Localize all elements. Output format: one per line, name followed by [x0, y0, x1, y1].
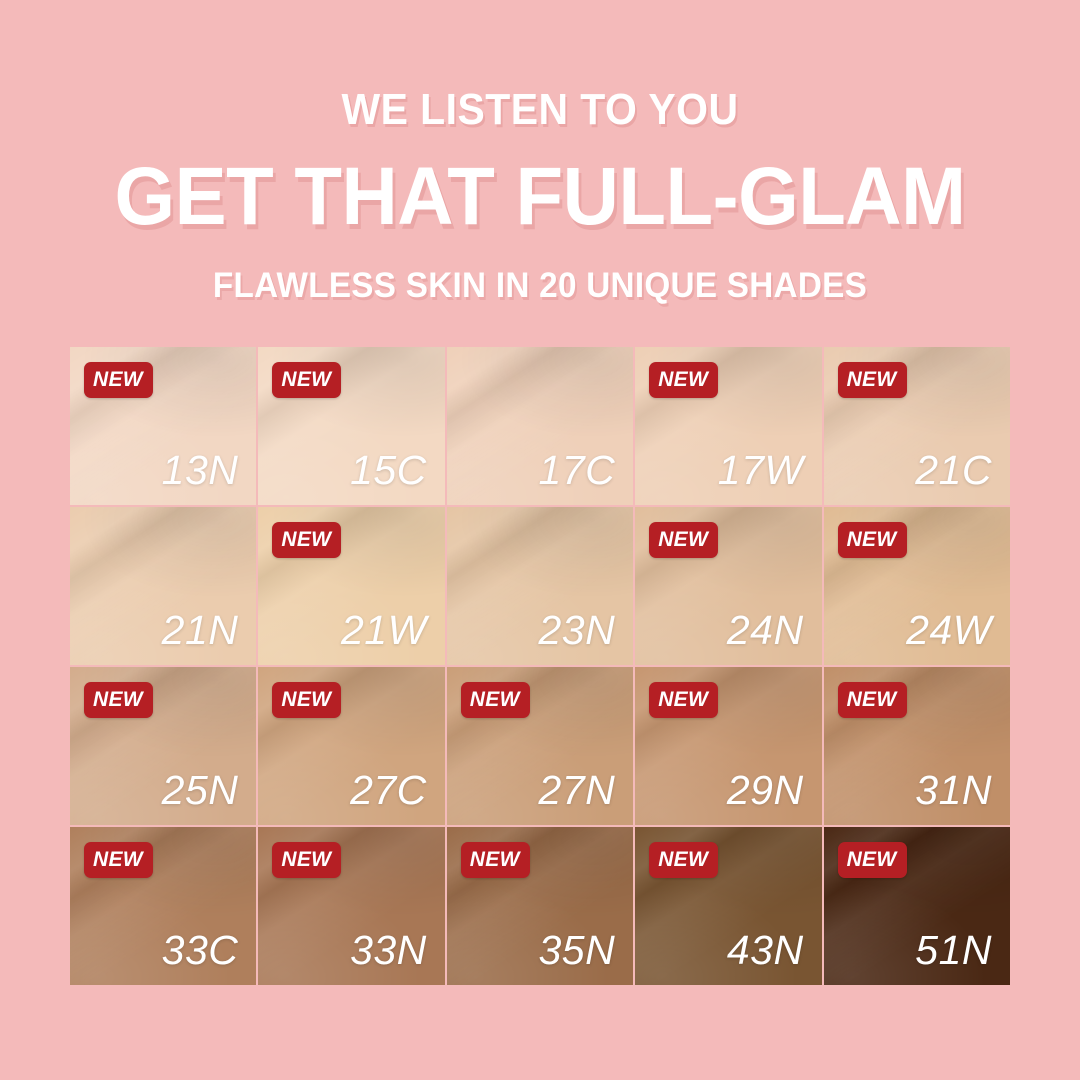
- shade-swatch[interactable]: NEW24N: [635, 507, 821, 665]
- new-badge: NEW: [649, 522, 718, 558]
- shade-swatch[interactable]: NEW21W: [258, 507, 444, 665]
- header-headline: GET THAT FULL-GLAM: [27, 156, 1053, 238]
- new-badge: NEW: [84, 682, 153, 718]
- new-badge: NEW: [838, 522, 907, 558]
- shade-swatch[interactable]: NEW27C: [258, 667, 444, 825]
- new-badge: NEW: [84, 362, 153, 398]
- shade-label: 21C: [915, 450, 992, 491]
- shade-label: 24W: [906, 610, 992, 651]
- shade-label: 13N: [162, 450, 239, 491]
- new-badge: NEW: [272, 842, 341, 878]
- new-badge: NEW: [272, 682, 341, 718]
- new-badge: NEW: [838, 682, 907, 718]
- shade-swatch[interactable]: NEW17C: [447, 347, 633, 505]
- shade-swatch[interactable]: NEW29N: [635, 667, 821, 825]
- new-badge: NEW: [272, 522, 341, 558]
- new-badge: NEW: [838, 362, 907, 398]
- shade-swatch[interactable]: NEW35N: [447, 827, 633, 985]
- shade-swatch[interactable]: NEW33C: [70, 827, 256, 985]
- new-badge: NEW: [84, 842, 153, 878]
- shade-label: 17C: [538, 450, 615, 491]
- shade-grid: NEW13NNEW15CNEW17CNEW17WNEW21CNEW21NNEW2…: [70, 347, 1010, 985]
- shade-swatch[interactable]: NEW27N: [447, 667, 633, 825]
- new-badge: NEW: [649, 842, 718, 878]
- shade-swatch[interactable]: NEW25N: [70, 667, 256, 825]
- shade-swatch[interactable]: NEW21N: [70, 507, 256, 665]
- new-badge: NEW: [649, 362, 718, 398]
- shade-label: 33C: [162, 930, 239, 971]
- new-badge: NEW: [272, 362, 341, 398]
- shade-label: 31N: [915, 770, 992, 811]
- promo-header: WE LISTEN TO YOU GET THAT FULL-GLAM FLAW…: [0, 0, 1080, 303]
- shade-swatch[interactable]: NEW21C: [824, 347, 1010, 505]
- shade-swatch[interactable]: NEW31N: [824, 667, 1010, 825]
- shade-label: 29N: [727, 770, 804, 811]
- shade-label: 33N: [350, 930, 427, 971]
- shade-label: 43N: [727, 930, 804, 971]
- shade-label: 24N: [727, 610, 804, 651]
- shade-label: 21W: [341, 610, 427, 651]
- shade-swatch[interactable]: NEW13N: [70, 347, 256, 505]
- new-badge: NEW: [649, 682, 718, 718]
- shade-swatch[interactable]: NEW15C: [258, 347, 444, 505]
- new-badge: NEW: [838, 842, 907, 878]
- new-badge: NEW: [461, 682, 530, 718]
- shade-swatch[interactable]: NEW17W: [635, 347, 821, 505]
- shade-label: 35N: [538, 930, 615, 971]
- shade-swatch[interactable]: NEW51N: [824, 827, 1010, 985]
- new-badge: NEW: [461, 842, 530, 878]
- shade-swatch[interactable]: NEW24W: [824, 507, 1010, 665]
- shade-label: 27N: [538, 770, 615, 811]
- shade-swatch[interactable]: NEW23N: [447, 507, 633, 665]
- header-subhead: FLAWLESS SKIN IN 20 UNIQUE SHADES: [27, 268, 1053, 303]
- shade-label: 27C: [350, 770, 427, 811]
- shade-label: 21N: [162, 610, 239, 651]
- shade-swatch[interactable]: NEW33N: [258, 827, 444, 985]
- shade-label: 23N: [538, 610, 615, 651]
- header-eyebrow: WE LISTEN TO YOU: [38, 88, 1042, 132]
- shade-label: 25N: [162, 770, 239, 811]
- shade-label: 51N: [915, 930, 992, 971]
- shade-label: 17W: [718, 450, 804, 491]
- shade-label: 15C: [350, 450, 427, 491]
- shade-swatch[interactable]: NEW43N: [635, 827, 821, 985]
